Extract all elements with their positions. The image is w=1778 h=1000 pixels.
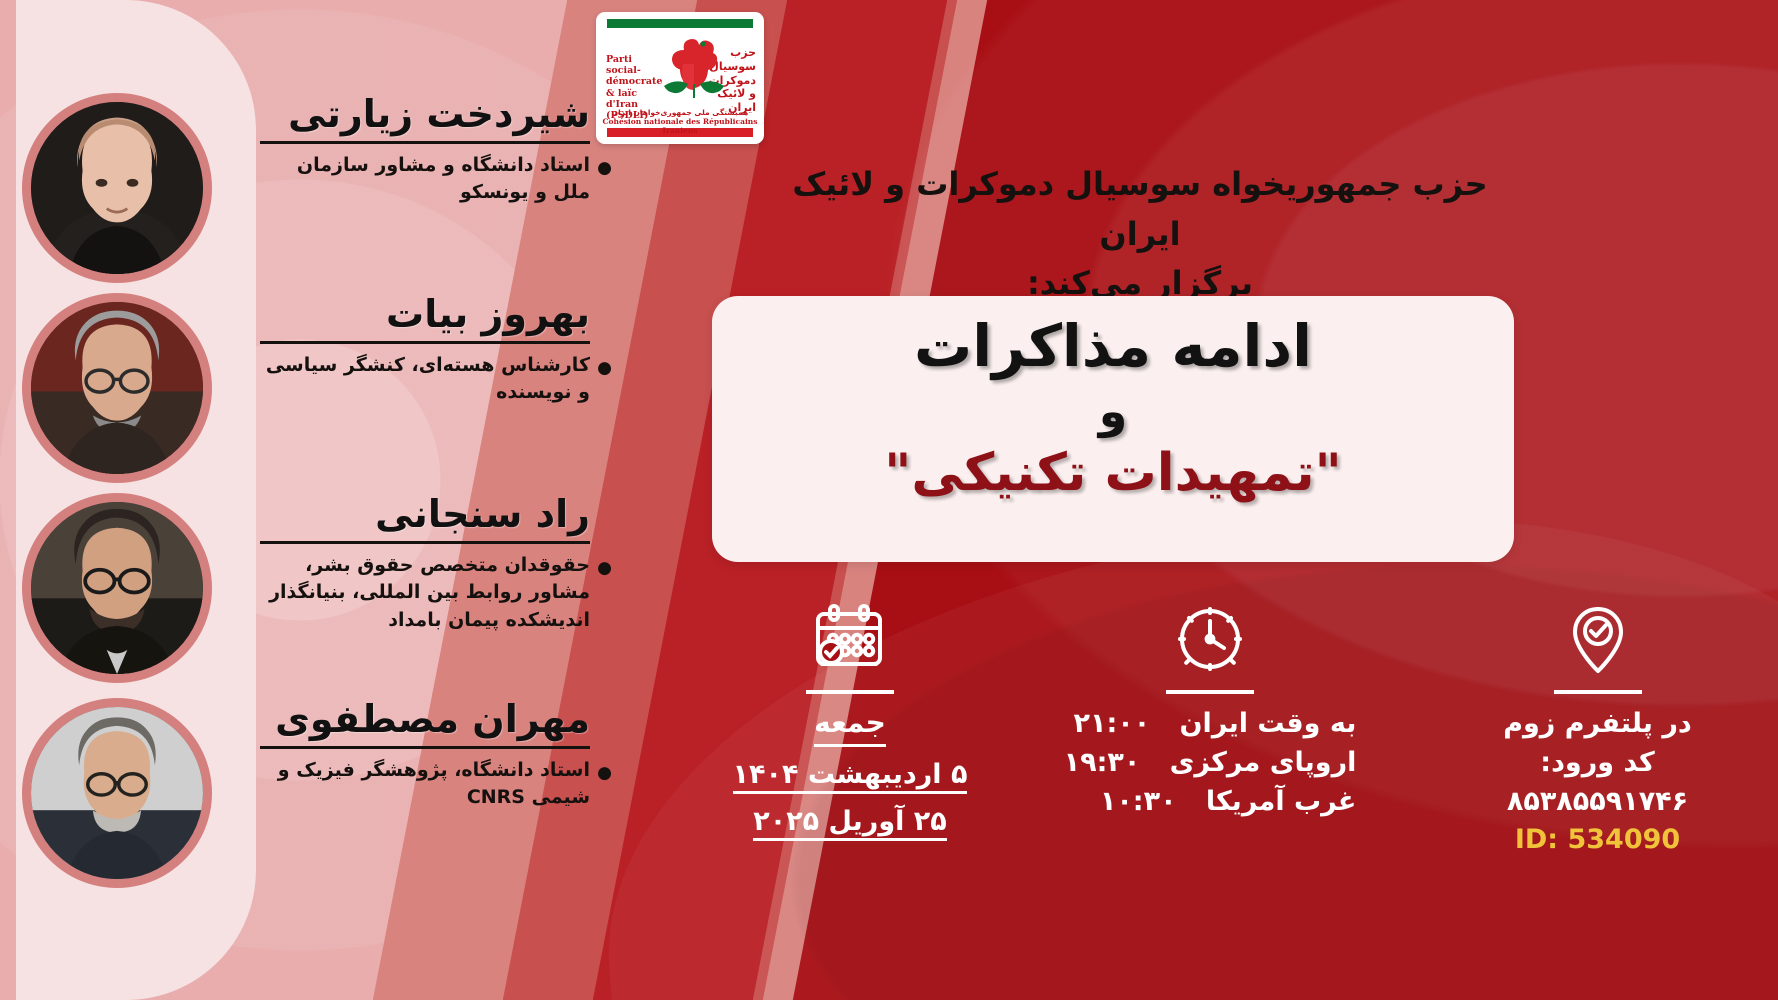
speaker-info-1: شیردخت زیارتی ● استاد دانشگاه و مشاور سا… <box>260 95 590 207</box>
speaker-photo-1 <box>31 102 203 274</box>
speaker-bio-2: کارشناس هسته‌ای، کنشگر سیاسی و نویسنده <box>260 352 590 407</box>
divider <box>260 141 590 144</box>
passcode-value: ۸۵۳۸۵۵۹۱۷۴۶ <box>1435 782 1760 821</box>
avatar-frame-4 <box>22 698 212 888</box>
speaker-bio-4: استاد دانشگاه، پژوهشگر فیزیک و شیمی CNRS <box>260 757 590 812</box>
logo-green-bar <box>607 19 753 28</box>
timezone-label-1: به وقت ایران <box>1180 704 1357 743</box>
divider <box>260 746 590 749</box>
divider <box>260 541 590 544</box>
speaker-photo-3 <box>31 502 203 674</box>
event-details-row: جمعه ۵ اردیبهشت ۱۴۰۴ ۲۵ آوریل ۲۰۲۵ <box>700 596 1760 896</box>
platform-name: در پلتفرم زوم <box>1435 704 1760 743</box>
location-pin-check-icon <box>1435 596 1760 686</box>
passcode-label: کد ورود: <box>1435 743 1760 782</box>
bullet-icon: ● <box>597 358 612 378</box>
organizer-header: حزب جمهوریخواه سوسیال دموکرات و لائیک ای… <box>770 160 1510 309</box>
speaker-bio-1: استاد دانشگاه و مشاور سازمان ملل و یونسک… <box>260 152 590 207</box>
calendar-icon <box>700 596 1000 686</box>
speaker-photo-4 <box>31 707 203 879</box>
speaker-info-2: بهروز بیات ● کارشناس هسته‌ای، کنشگر سیاس… <box>260 295 590 407</box>
speaker-card-2: بهروز بیات ● کارشناس هسته‌ای، کنشگر سیاس… <box>0 285 700 485</box>
bullet-icon: ● <box>597 158 612 178</box>
timezone-row: اروپای مرکزی ۱۹:۳۰ <box>1064 743 1357 782</box>
event-date-gregorian: ۲۵ آوریل ۲۰۲۵ <box>700 802 1000 841</box>
bullet-icon: ● <box>597 558 612 578</box>
event-date-persian: ۵ اردیبهشت ۱۴۰۴ <box>700 755 1000 794</box>
main-title-line-3: "تمهیدات تکنیکی" <box>712 440 1514 508</box>
main-title-card: ادامه مذاکرات و "تمهیدات تکنیکی" <box>712 296 1514 562</box>
timezone-value-1: ۲۱:۰۰ <box>1074 704 1166 743</box>
timezone-value-3: ۱۰:۳۰ <box>1100 782 1192 821</box>
main-title-line-2: و <box>712 383 1514 441</box>
event-time-column: به وقت ایران ۲۱:۰۰ اروپای مرکزی ۱۹:۳۰ غر… <box>1000 596 1420 821</box>
rose-logo-icon <box>662 34 726 104</box>
speaker-info-4: مهران مصطفوی ● استاد دانشگاه، پژوهشگر فی… <box>260 700 590 812</box>
speaker-info-3: راد سنجانی ● حقوقدان متخصص حقوق بشر، مشا… <box>260 495 590 635</box>
timezone-label-3: غرب آمریکا <box>1206 782 1357 821</box>
logo-caption-persian: همبستگی ملی جمهوری‌خواهان ایران <box>596 108 764 117</box>
timezone-label-2: اروپای مرکزی <box>1170 743 1357 782</box>
speaker-card-3: راد سنجانی ● حقوقدان متخصص حقوق بشر، مشا… <box>0 485 700 685</box>
avatar-frame-2 <box>22 293 212 483</box>
timezone-list: به وقت ایران ۲۱:۰۰ اروپای مرکزی ۱۹:۳۰ غر… <box>1064 704 1357 821</box>
speaker-name-1: شیردخت زیارتی <box>260 95 590 135</box>
meeting-id: ID: 534090 <box>1435 821 1760 859</box>
main-title-line-1: ادامه مذاکرات <box>712 310 1514 383</box>
timezone-value-2: ۱۹:۳۰ <box>1064 743 1156 782</box>
organizer-line-1: حزب جمهوریخواه سوسیال دموکرات و لائیک ای… <box>770 160 1510 259</box>
event-platform-column: در پلتفرم زوم کد ورود: ۸۵۳۸۵۵۹۱۷۴۶ ID: 5… <box>1435 596 1760 859</box>
divider <box>1166 690 1254 694</box>
speaker-card-1: شیردخت زیارتی ● استاد دانشگاه و مشاور سا… <box>0 85 700 285</box>
speaker-name-4: مهران مصطفوی <box>260 700 590 740</box>
event-poster: شیردخت زیارتی ● استاد دانشگاه و مشاور سا… <box>0 0 1778 1000</box>
party-logo-card: Parti social-démocrate & laïc d'Iran (PS… <box>596 12 764 144</box>
divider <box>806 690 894 694</box>
speaker-photo-2 <box>31 302 203 474</box>
divider <box>260 341 590 344</box>
clock-icon <box>1000 596 1420 686</box>
event-date-column: جمعه ۵ اردیبهشت ۱۴۰۴ ۲۵ آوریل ۲۰۲۵ <box>700 596 1000 841</box>
speaker-card-4: مهران مصطفوی ● استاد دانشگاه، پژوهشگر فی… <box>0 690 700 890</box>
logo-caption-french: Cohésion nationale des Républicains Iran… <box>596 117 764 135</box>
bullet-icon: ● <box>597 763 612 783</box>
avatar-frame-1 <box>22 93 212 283</box>
speaker-name-2: بهروز بیات <box>260 295 590 335</box>
event-weekday: جمعه <box>700 704 1000 747</box>
timezone-row: به وقت ایران ۲۱:۰۰ <box>1064 704 1357 743</box>
speaker-bio-3: حقوقدان متخصص حقوق بشر، مشاور روابط بین … <box>260 552 590 635</box>
divider <box>1554 690 1642 694</box>
speaker-name-3: راد سنجانی <box>260 495 590 535</box>
timezone-row: غرب آمریکا ۱۰:۳۰ <box>1064 782 1357 821</box>
avatar-frame-3 <box>22 493 212 683</box>
